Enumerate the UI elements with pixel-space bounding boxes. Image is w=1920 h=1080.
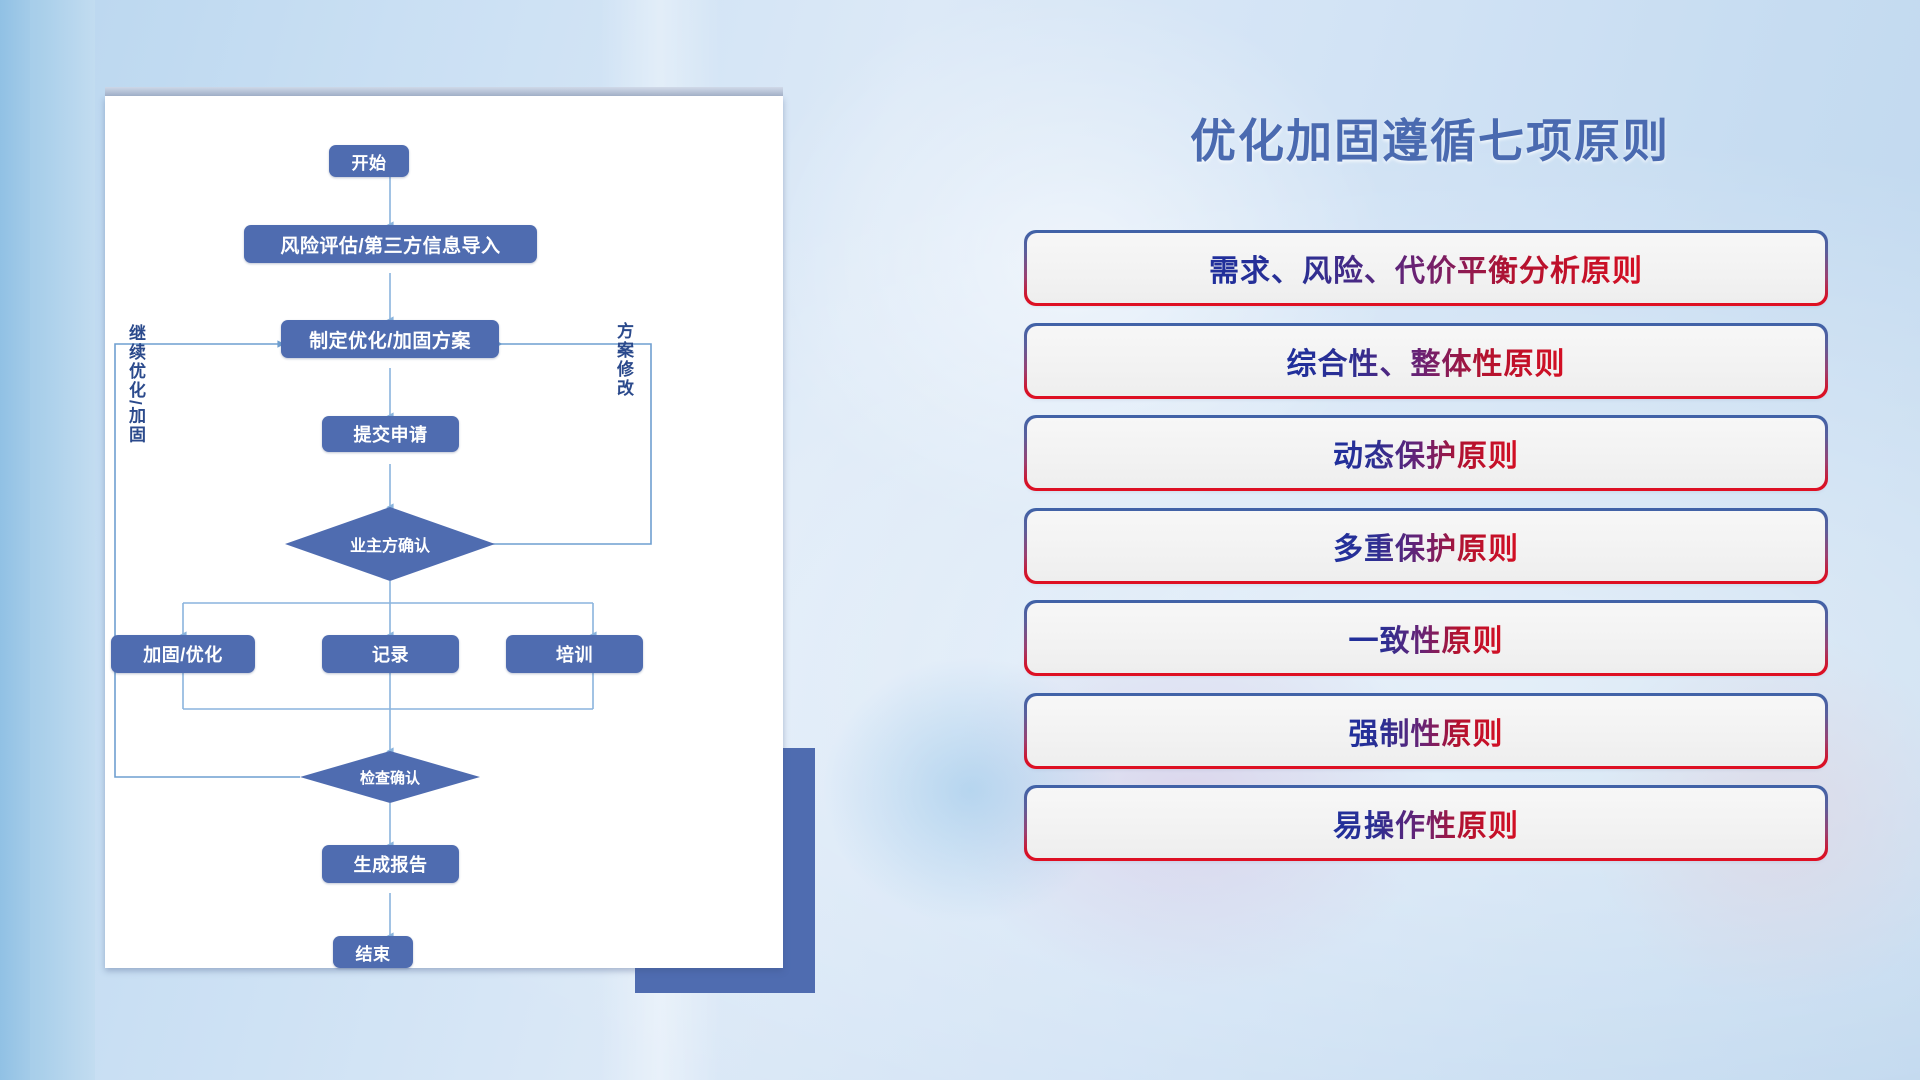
flow-node-make-plan[interactable]: 制定优化/加固方案 bbox=[281, 320, 499, 358]
principle-inner: 一致性原则 bbox=[1027, 603, 1825, 673]
principle-label: 强制性原则 bbox=[1349, 709, 1504, 753]
flow-node-label: 提交申请 bbox=[354, 421, 428, 447]
flow-node-generate-report[interactable]: 生成报告 bbox=[322, 845, 459, 883]
principle-inner: 强制性原则 bbox=[1027, 696, 1825, 766]
flow-node-label: 业主方确认 bbox=[350, 532, 430, 556]
principle-label: 易操作性原则 bbox=[1333, 801, 1519, 845]
principle-item[interactable]: 动态保护原则 bbox=[1026, 417, 1826, 489]
flow-edge-label-continue-optimize: 继续优化/加固 bbox=[123, 324, 148, 445]
principle-label: 需求、风险、代价平衡分析原则 bbox=[1209, 246, 1643, 290]
flow-node-label: 生成报告 bbox=[354, 851, 428, 877]
card-top-bar bbox=[105, 87, 783, 96]
flow-node-record[interactable]: 记录 bbox=[322, 635, 459, 673]
principle-label: 综合性、整体性原则 bbox=[1287, 339, 1566, 383]
principle-inner: 需求、风险、代价平衡分析原则 bbox=[1027, 233, 1825, 303]
flow-node-submit-application[interactable]: 提交申请 bbox=[322, 416, 459, 452]
principle-item[interactable]: 多重保护原则 bbox=[1026, 510, 1826, 582]
principle-inner: 易操作性原则 bbox=[1027, 788, 1825, 858]
flow-node-risk-assessment[interactable]: 风险评估/第三方信息导入 bbox=[244, 225, 537, 263]
flow-node-reinforce-optimize[interactable]: 加固/优化 bbox=[111, 635, 255, 673]
flow-node-label: 加固/优化 bbox=[143, 641, 223, 667]
flow-edge-label-plan-revision: 方案修改 bbox=[611, 322, 636, 398]
flow-node-label: 培训 bbox=[556, 641, 593, 667]
flow-node-label: 记录 bbox=[372, 641, 409, 667]
principle-label: 多重保护原则 bbox=[1333, 524, 1519, 568]
principle-item[interactable]: 需求、风险、代价平衡分析原则 bbox=[1026, 232, 1826, 304]
background-left-edge bbox=[0, 0, 30, 1080]
principle-inner: 多重保护原则 bbox=[1027, 511, 1825, 581]
flow-node-label: 结束 bbox=[356, 940, 391, 965]
flow-node-training[interactable]: 培训 bbox=[506, 635, 643, 673]
principle-inner: 综合性、整体性原则 bbox=[1027, 326, 1825, 396]
principle-item[interactable]: 强制性原则 bbox=[1026, 695, 1826, 767]
principles-list: 需求、风险、代价平衡分析原则 综合性、整体性原则 动态保护原则 多重保护原则 一… bbox=[1026, 232, 1826, 880]
principle-label: 动态保护原则 bbox=[1333, 431, 1519, 475]
principle-item[interactable]: 综合性、整体性原则 bbox=[1026, 325, 1826, 397]
flow-node-label: 制定优化/加固方案 bbox=[309, 326, 471, 353]
flow-node-start[interactable]: 开始 bbox=[329, 145, 409, 177]
flow-node-label: 风险评估/第三方信息导入 bbox=[280, 231, 500, 258]
principle-item[interactable]: 一致性原则 bbox=[1026, 602, 1826, 674]
flow-node-end[interactable]: 结束 bbox=[333, 936, 413, 968]
principle-item[interactable]: 易操作性原则 bbox=[1026, 787, 1826, 859]
flow-node-label: 开始 bbox=[352, 149, 387, 174]
page-title: 优化加固遵循七项原则 bbox=[1020, 105, 1840, 171]
flowchart-card: 开始 风险评估/第三方信息导入 制定优化/加固方案 提交申请 业主方确认 加固/… bbox=[105, 96, 783, 968]
flow-node-label: 检查确认 bbox=[360, 767, 420, 788]
principle-inner: 动态保护原则 bbox=[1027, 418, 1825, 488]
principle-label: 一致性原则 bbox=[1349, 616, 1504, 660]
flowchart: 开始 风险评估/第三方信息导入 制定优化/加固方案 提交申请 业主方确认 加固/… bbox=[105, 96, 783, 968]
